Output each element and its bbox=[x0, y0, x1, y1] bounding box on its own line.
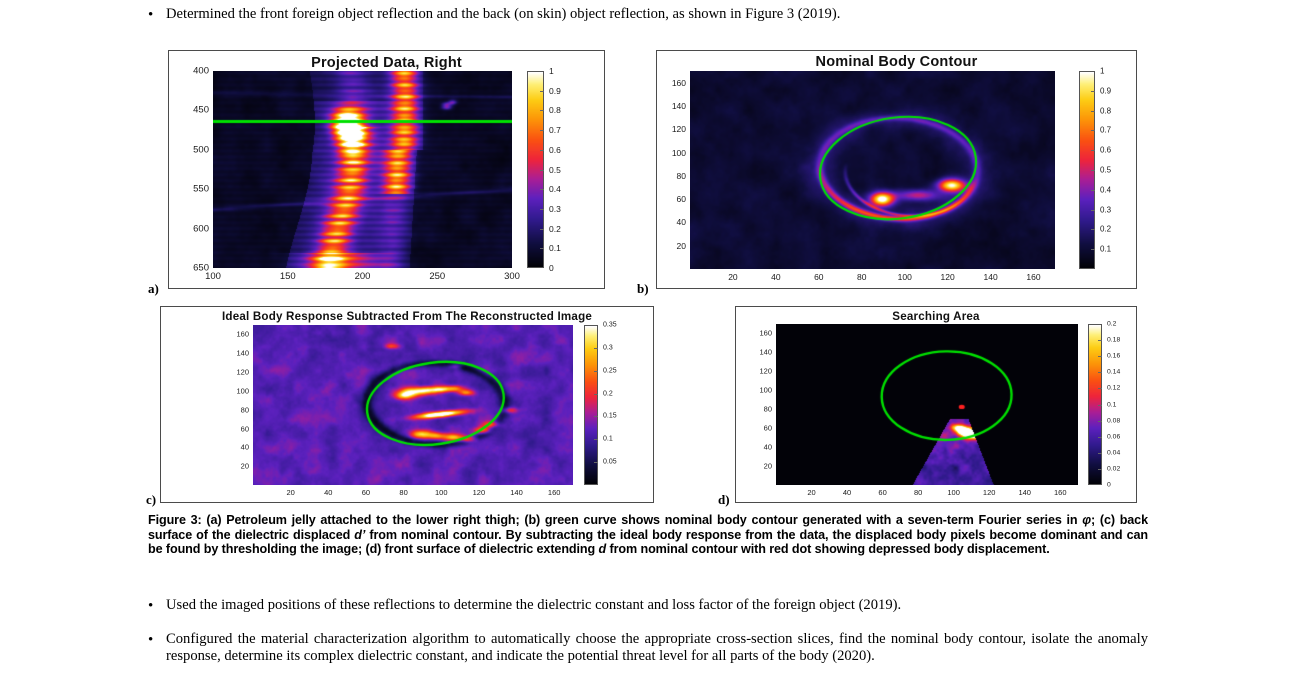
colorbar-tick-mark bbox=[540, 189, 544, 190]
bullet-item-configured-algorithm: • Configured the material characterizati… bbox=[148, 631, 1148, 665]
bullet-text: Used the imaged positions of these refle… bbox=[166, 597, 1148, 614]
colorbar-tick-mark bbox=[540, 248, 544, 249]
colorbar-tick-mark bbox=[594, 394, 598, 395]
colorbar-tick-label: 1 bbox=[549, 66, 554, 76]
x-tick-label: 120 bbox=[941, 272, 955, 282]
panel-c-plot-image bbox=[253, 325, 573, 485]
bullet-item-top: • Determined the front foreign object re… bbox=[148, 6, 1148, 24]
colorbar-tick-label: 0.5 bbox=[549, 165, 561, 175]
colorbar-tick-label: 0.08 bbox=[1107, 417, 1120, 424]
y-tick-label: 120 bbox=[654, 124, 686, 134]
panel-d-label: d) bbox=[718, 492, 730, 508]
colorbar-tick-mark bbox=[540, 229, 544, 230]
x-tick-label: 20 bbox=[728, 272, 737, 282]
figure-panel-c: Ideal Body Response Subtracted From The … bbox=[160, 306, 654, 503]
colorbar-tick-mark bbox=[1091, 210, 1095, 211]
colorbar-tick-mark bbox=[1091, 229, 1095, 230]
colorbar-tick-label: 0.4 bbox=[549, 184, 561, 194]
x-tick-label: 20 bbox=[286, 488, 294, 497]
colorbar-tick-mark bbox=[540, 91, 544, 92]
colorbar-tick-label: 0.9 bbox=[549, 86, 561, 96]
bullet-text: Configured the material characterization… bbox=[166, 631, 1148, 665]
colorbar-tick-label: 0.04 bbox=[1107, 449, 1120, 456]
colorbar-tick-label: 0.3 bbox=[1100, 205, 1111, 214]
bullet-marker-icon: • bbox=[148, 6, 166, 24]
x-tick-label: 140 bbox=[1018, 488, 1031, 497]
colorbar-tick-label: 0.3 bbox=[603, 344, 613, 351]
x-tick-label: 20 bbox=[807, 488, 815, 497]
colorbar-tick-label: 0.1 bbox=[1100, 245, 1111, 254]
colorbar-tick-mark bbox=[540, 110, 544, 111]
y-tick-label: 160 bbox=[654, 78, 686, 88]
x-tick-label: 200 bbox=[355, 271, 371, 282]
colorbar-tick-label: 0.2 bbox=[549, 224, 561, 234]
panel-b-plot-image bbox=[690, 71, 1055, 269]
y-tick-label: 120 bbox=[740, 367, 772, 376]
x-tick-label: 60 bbox=[814, 272, 823, 282]
bullet-item-used-positions: • Used the imaged positions of these ref… bbox=[148, 597, 1148, 615]
colorbar-tick-label: 0.9 bbox=[1100, 86, 1111, 95]
y-tick-label: 500 bbox=[177, 144, 209, 155]
colorbar-tick-label: 0.7 bbox=[549, 125, 561, 135]
colorbar-tick-label: 0.2 bbox=[1107, 321, 1116, 328]
x-tick-label: 160 bbox=[548, 488, 561, 497]
colorbar-tick-label: 0.1 bbox=[603, 436, 613, 443]
x-tick-label: 120 bbox=[473, 488, 486, 497]
colorbar-tick-mark bbox=[1098, 340, 1102, 341]
panel-d-plot-image bbox=[776, 324, 1078, 485]
colorbar-tick-mark bbox=[1098, 421, 1102, 422]
x-tick-label: 300 bbox=[504, 271, 520, 282]
y-tick-label: 40 bbox=[654, 217, 686, 227]
colorbar-tick-mark bbox=[1098, 469, 1102, 470]
colorbar-tick-label: 0.14 bbox=[1107, 369, 1120, 376]
colorbar-tick-label: 0.1 bbox=[1107, 401, 1116, 408]
panel-d-title: Searching Area bbox=[736, 310, 1136, 323]
colorbar-tick-label: 0.2 bbox=[1100, 225, 1111, 234]
y-tick-label: 120 bbox=[217, 368, 249, 377]
y-tick-label: 400 bbox=[177, 66, 209, 77]
x-tick-label: 100 bbox=[205, 271, 221, 282]
x-tick-label: 40 bbox=[771, 272, 780, 282]
colorbar-tick-mark bbox=[1098, 437, 1102, 438]
y-tick-label: 160 bbox=[740, 329, 772, 338]
y-tick-label: 20 bbox=[217, 462, 249, 471]
colorbar-tick-mark bbox=[540, 170, 544, 171]
figure-caption-text: Figure 3: (a) Petroleum jelly attached t… bbox=[148, 513, 1148, 556]
colorbar-tick-mark bbox=[540, 130, 544, 131]
bullet-marker-icon: • bbox=[148, 631, 166, 649]
colorbar-tick-label: 0.4 bbox=[1100, 185, 1111, 194]
bullet-text: Determined the front foreign object refl… bbox=[166, 6, 1148, 23]
y-tick-label: 100 bbox=[654, 148, 686, 158]
panel-b-label: b) bbox=[637, 281, 649, 297]
y-tick-label: 140 bbox=[654, 101, 686, 111]
panel-a-plot-image bbox=[213, 71, 512, 268]
colorbar-tick-label: 0 bbox=[1107, 482, 1111, 489]
colorbar-tick-mark bbox=[1091, 111, 1095, 112]
colorbar-tick-mark bbox=[1091, 170, 1095, 171]
y-tick-label: 100 bbox=[740, 386, 772, 395]
y-tick-label: 600 bbox=[177, 223, 209, 234]
colorbar-tick-label: 0.12 bbox=[1107, 385, 1120, 392]
colorbar-tick-label: 0.6 bbox=[1100, 146, 1111, 155]
colorbar-tick-mark bbox=[1098, 453, 1102, 454]
colorbar-tick-label: 0.35 bbox=[603, 322, 617, 329]
y-tick-label: 140 bbox=[740, 348, 772, 357]
x-tick-label: 100 bbox=[947, 488, 960, 497]
colorbar-tick-mark bbox=[540, 209, 544, 210]
colorbar-tick-mark bbox=[594, 416, 598, 417]
x-tick-label: 120 bbox=[983, 488, 996, 497]
colorbar-tick-label: 0.6 bbox=[549, 145, 561, 155]
x-tick-label: 80 bbox=[914, 488, 922, 497]
colorbar-tick-label: 0.8 bbox=[1100, 106, 1111, 115]
colorbar-tick-mark bbox=[594, 439, 598, 440]
y-tick-label: 160 bbox=[217, 330, 249, 339]
colorbar-tick-label: 0.1 bbox=[549, 243, 561, 253]
panel-a-label: a) bbox=[148, 281, 159, 297]
figure-panel-a: Projected Data, Right 400450500550600650… bbox=[168, 50, 605, 289]
colorbar-tick-mark bbox=[1091, 91, 1095, 92]
colorbar-tick-mark bbox=[1098, 388, 1102, 389]
y-tick-label: 80 bbox=[217, 405, 249, 414]
x-tick-label: 140 bbox=[983, 272, 997, 282]
x-tick-label: 40 bbox=[324, 488, 332, 497]
colorbar-tick-label: 0.7 bbox=[1100, 126, 1111, 135]
colorbar-tick-mark bbox=[1091, 249, 1095, 250]
colorbar-tick-label: 0.02 bbox=[1107, 465, 1120, 472]
x-tick-label: 40 bbox=[843, 488, 851, 497]
y-tick-label: 20 bbox=[740, 462, 772, 471]
x-tick-label: 80 bbox=[857, 272, 866, 282]
colorbar-tick-mark bbox=[1091, 130, 1095, 131]
x-tick-label: 100 bbox=[435, 488, 448, 497]
y-tick-label: 80 bbox=[654, 171, 686, 181]
colorbar-tick-label: 0.5 bbox=[1100, 166, 1111, 175]
colorbar-tick-label: 0.3 bbox=[549, 204, 561, 214]
colorbar-tick-mark bbox=[540, 150, 544, 151]
figure-panel-d: Searching Area 2040608010012014016020406… bbox=[735, 306, 1137, 503]
y-tick-label: 40 bbox=[740, 443, 772, 452]
x-tick-label: 140 bbox=[510, 488, 523, 497]
colorbar-tick-label: 0.2 bbox=[603, 390, 613, 397]
colorbar-tick-mark bbox=[594, 462, 598, 463]
panel-b-title: Nominal Body Contour bbox=[657, 54, 1136, 70]
y-tick-label: 60 bbox=[217, 424, 249, 433]
colorbar-tick-mark bbox=[1098, 356, 1102, 357]
colorbar-tick-label: 0.16 bbox=[1107, 353, 1120, 360]
colorbar-tick-label: 0 bbox=[549, 263, 554, 273]
x-tick-label: 100 bbox=[898, 272, 912, 282]
panel-c-title: Ideal Body Response Subtracted From The … bbox=[161, 310, 653, 323]
y-tick-label: 140 bbox=[217, 349, 249, 358]
colorbar-tick-label: 0.25 bbox=[603, 367, 617, 374]
figure-panel-b: Nominal Body Contour 2040608010012014016… bbox=[656, 50, 1137, 289]
colorbar-tick-mark bbox=[1098, 405, 1102, 406]
colorbar-tick-mark bbox=[1091, 190, 1095, 191]
colorbar-tick-label: 0.06 bbox=[1107, 433, 1120, 440]
figure-caption: Figure 3: (a) Petroleum jelly attached t… bbox=[148, 513, 1148, 557]
y-tick-label: 550 bbox=[177, 184, 209, 195]
x-tick-label: 150 bbox=[280, 271, 296, 282]
x-tick-label: 250 bbox=[429, 271, 445, 282]
x-tick-label: 160 bbox=[1054, 488, 1067, 497]
y-tick-label: 450 bbox=[177, 105, 209, 116]
x-tick-label: 80 bbox=[399, 488, 407, 497]
colorbar-tick-label: 1 bbox=[1100, 67, 1104, 76]
colorbar-tick-label: 0.8 bbox=[549, 105, 561, 115]
x-tick-label: 160 bbox=[1026, 272, 1040, 282]
panel-c-colorbar bbox=[584, 325, 598, 485]
y-tick-label: 40 bbox=[217, 443, 249, 452]
y-tick-label: 100 bbox=[217, 386, 249, 395]
panel-c-label: c) bbox=[146, 492, 156, 508]
y-tick-label: 20 bbox=[654, 241, 686, 251]
colorbar-tick-mark bbox=[1098, 372, 1102, 373]
y-tick-label: 60 bbox=[740, 424, 772, 433]
colorbar-tick-mark bbox=[594, 348, 598, 349]
colorbar-tick-mark bbox=[594, 371, 598, 372]
bullet-marker-icon: • bbox=[148, 597, 166, 615]
y-tick-label: 60 bbox=[654, 194, 686, 204]
x-tick-label: 60 bbox=[878, 488, 886, 497]
colorbar-tick-label: 0.15 bbox=[603, 413, 617, 420]
panel-a-title: Projected Data, Right bbox=[169, 55, 604, 71]
x-tick-label: 60 bbox=[362, 488, 370, 497]
y-tick-label: 80 bbox=[740, 405, 772, 414]
colorbar-tick-mark bbox=[1091, 150, 1095, 151]
colorbar-tick-label: 0.05 bbox=[603, 459, 617, 466]
colorbar-tick-label: 0.18 bbox=[1107, 337, 1120, 344]
